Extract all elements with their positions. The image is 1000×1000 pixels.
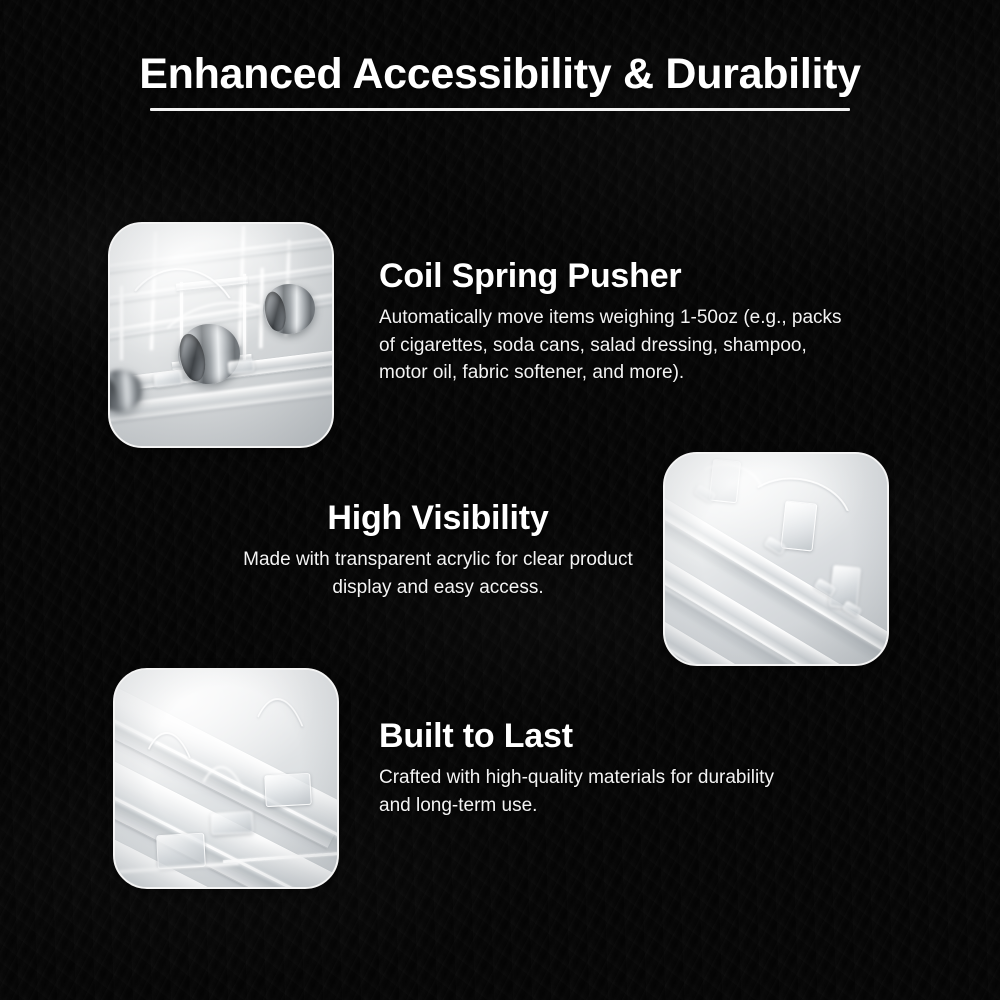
feature-image-built-to-last	[113, 668, 339, 889]
feature-description-built-to-last: Crafted with high-quality materials for …	[379, 764, 799, 818]
page-title: Enhanced Accessibility & Durability	[0, 52, 1000, 97]
page-title-block: Enhanced Accessibility & Durability	[0, 52, 1000, 111]
title-underline-rule	[150, 108, 850, 111]
feature-title-built-to-last: Built to Last	[379, 718, 799, 755]
photo-built-to-last	[115, 670, 337, 887]
feature-block-built-to-last: Built to Last Crafted with high-quality …	[0, 0, 1000, 1000]
poster-canvas: Enhanced Accessibility & Durability	[0, 0, 1000, 1000]
feature-copy-built-to-last: Built to Last Crafted with high-quality …	[379, 718, 799, 819]
